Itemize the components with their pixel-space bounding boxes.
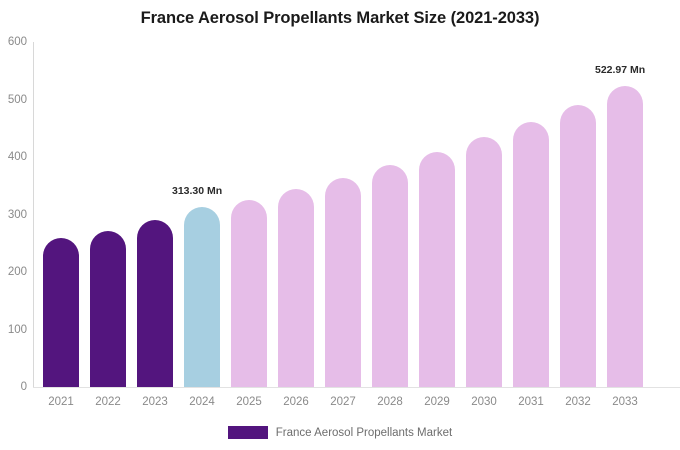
x-tick-label-2021: 2021 — [43, 396, 79, 408]
x-tick-label-2024: 2024 — [184, 396, 220, 408]
x-tick-label-2030: 2030 — [466, 396, 502, 408]
bar-2027[interactable] — [325, 178, 361, 387]
chart-title: France Aerosol Propellants Market Size (… — [0, 9, 680, 28]
y-tick-label: 0 — [0, 381, 27, 393]
x-tick-label-2031: 2031 — [513, 396, 549, 408]
x-tick-label-2028: 2028 — [372, 396, 408, 408]
x-tick-label-2033: 2033 — [607, 396, 643, 408]
bar-2021[interactable] — [43, 238, 79, 388]
bar-label-2024: 313.30 Mn — [172, 185, 222, 197]
chart-container: France Aerosol Propellants Market Size (… — [0, 0, 680, 450]
y-tick-label: 200 — [0, 266, 27, 278]
y-tick-label: 400 — [0, 151, 27, 163]
bar-2032[interactable] — [560, 105, 596, 387]
bar-2028[interactable] — [372, 165, 408, 387]
y-tick-label: 300 — [0, 209, 27, 221]
bar-2033[interactable] — [607, 86, 643, 387]
bar-2026[interactable] — [278, 189, 314, 387]
y-tick-label: 500 — [0, 94, 27, 106]
bar-2029[interactable] — [419, 152, 455, 387]
y-tick-label: 100 — [0, 324, 27, 336]
x-tick-label-2023: 2023 — [137, 396, 173, 408]
y-tick-label: 600 — [0, 36, 27, 48]
legend-swatch-france-aerosol-propellants-market — [228, 426, 268, 439]
bar-label-2033: 522.97 Mn — [595, 64, 645, 76]
bar-2030[interactable] — [466, 137, 502, 387]
x-tick-label-2022: 2022 — [90, 396, 126, 408]
bar-2022[interactable] — [90, 231, 126, 387]
bar-2025[interactable] — [231, 200, 267, 387]
plot-area — [33, 42, 680, 387]
x-tick-label-2027: 2027 — [325, 396, 361, 408]
chart-legend: France Aerosol Propellants Market — [0, 426, 680, 439]
x-tick-label-2032: 2032 — [560, 396, 596, 408]
x-tick-label-2029: 2029 — [419, 396, 455, 408]
x-tick-label-2025: 2025 — [231, 396, 267, 408]
bar-2023[interactable] — [137, 220, 173, 387]
bar-2031[interactable] — [513, 122, 549, 387]
x-tick-label-2026: 2026 — [278, 396, 314, 408]
bar-2024[interactable] — [184, 207, 220, 387]
legend-label-france-aerosol-propellants-market: France Aerosol Propellants Market — [276, 427, 452, 439]
x-axis-line — [33, 387, 680, 388]
